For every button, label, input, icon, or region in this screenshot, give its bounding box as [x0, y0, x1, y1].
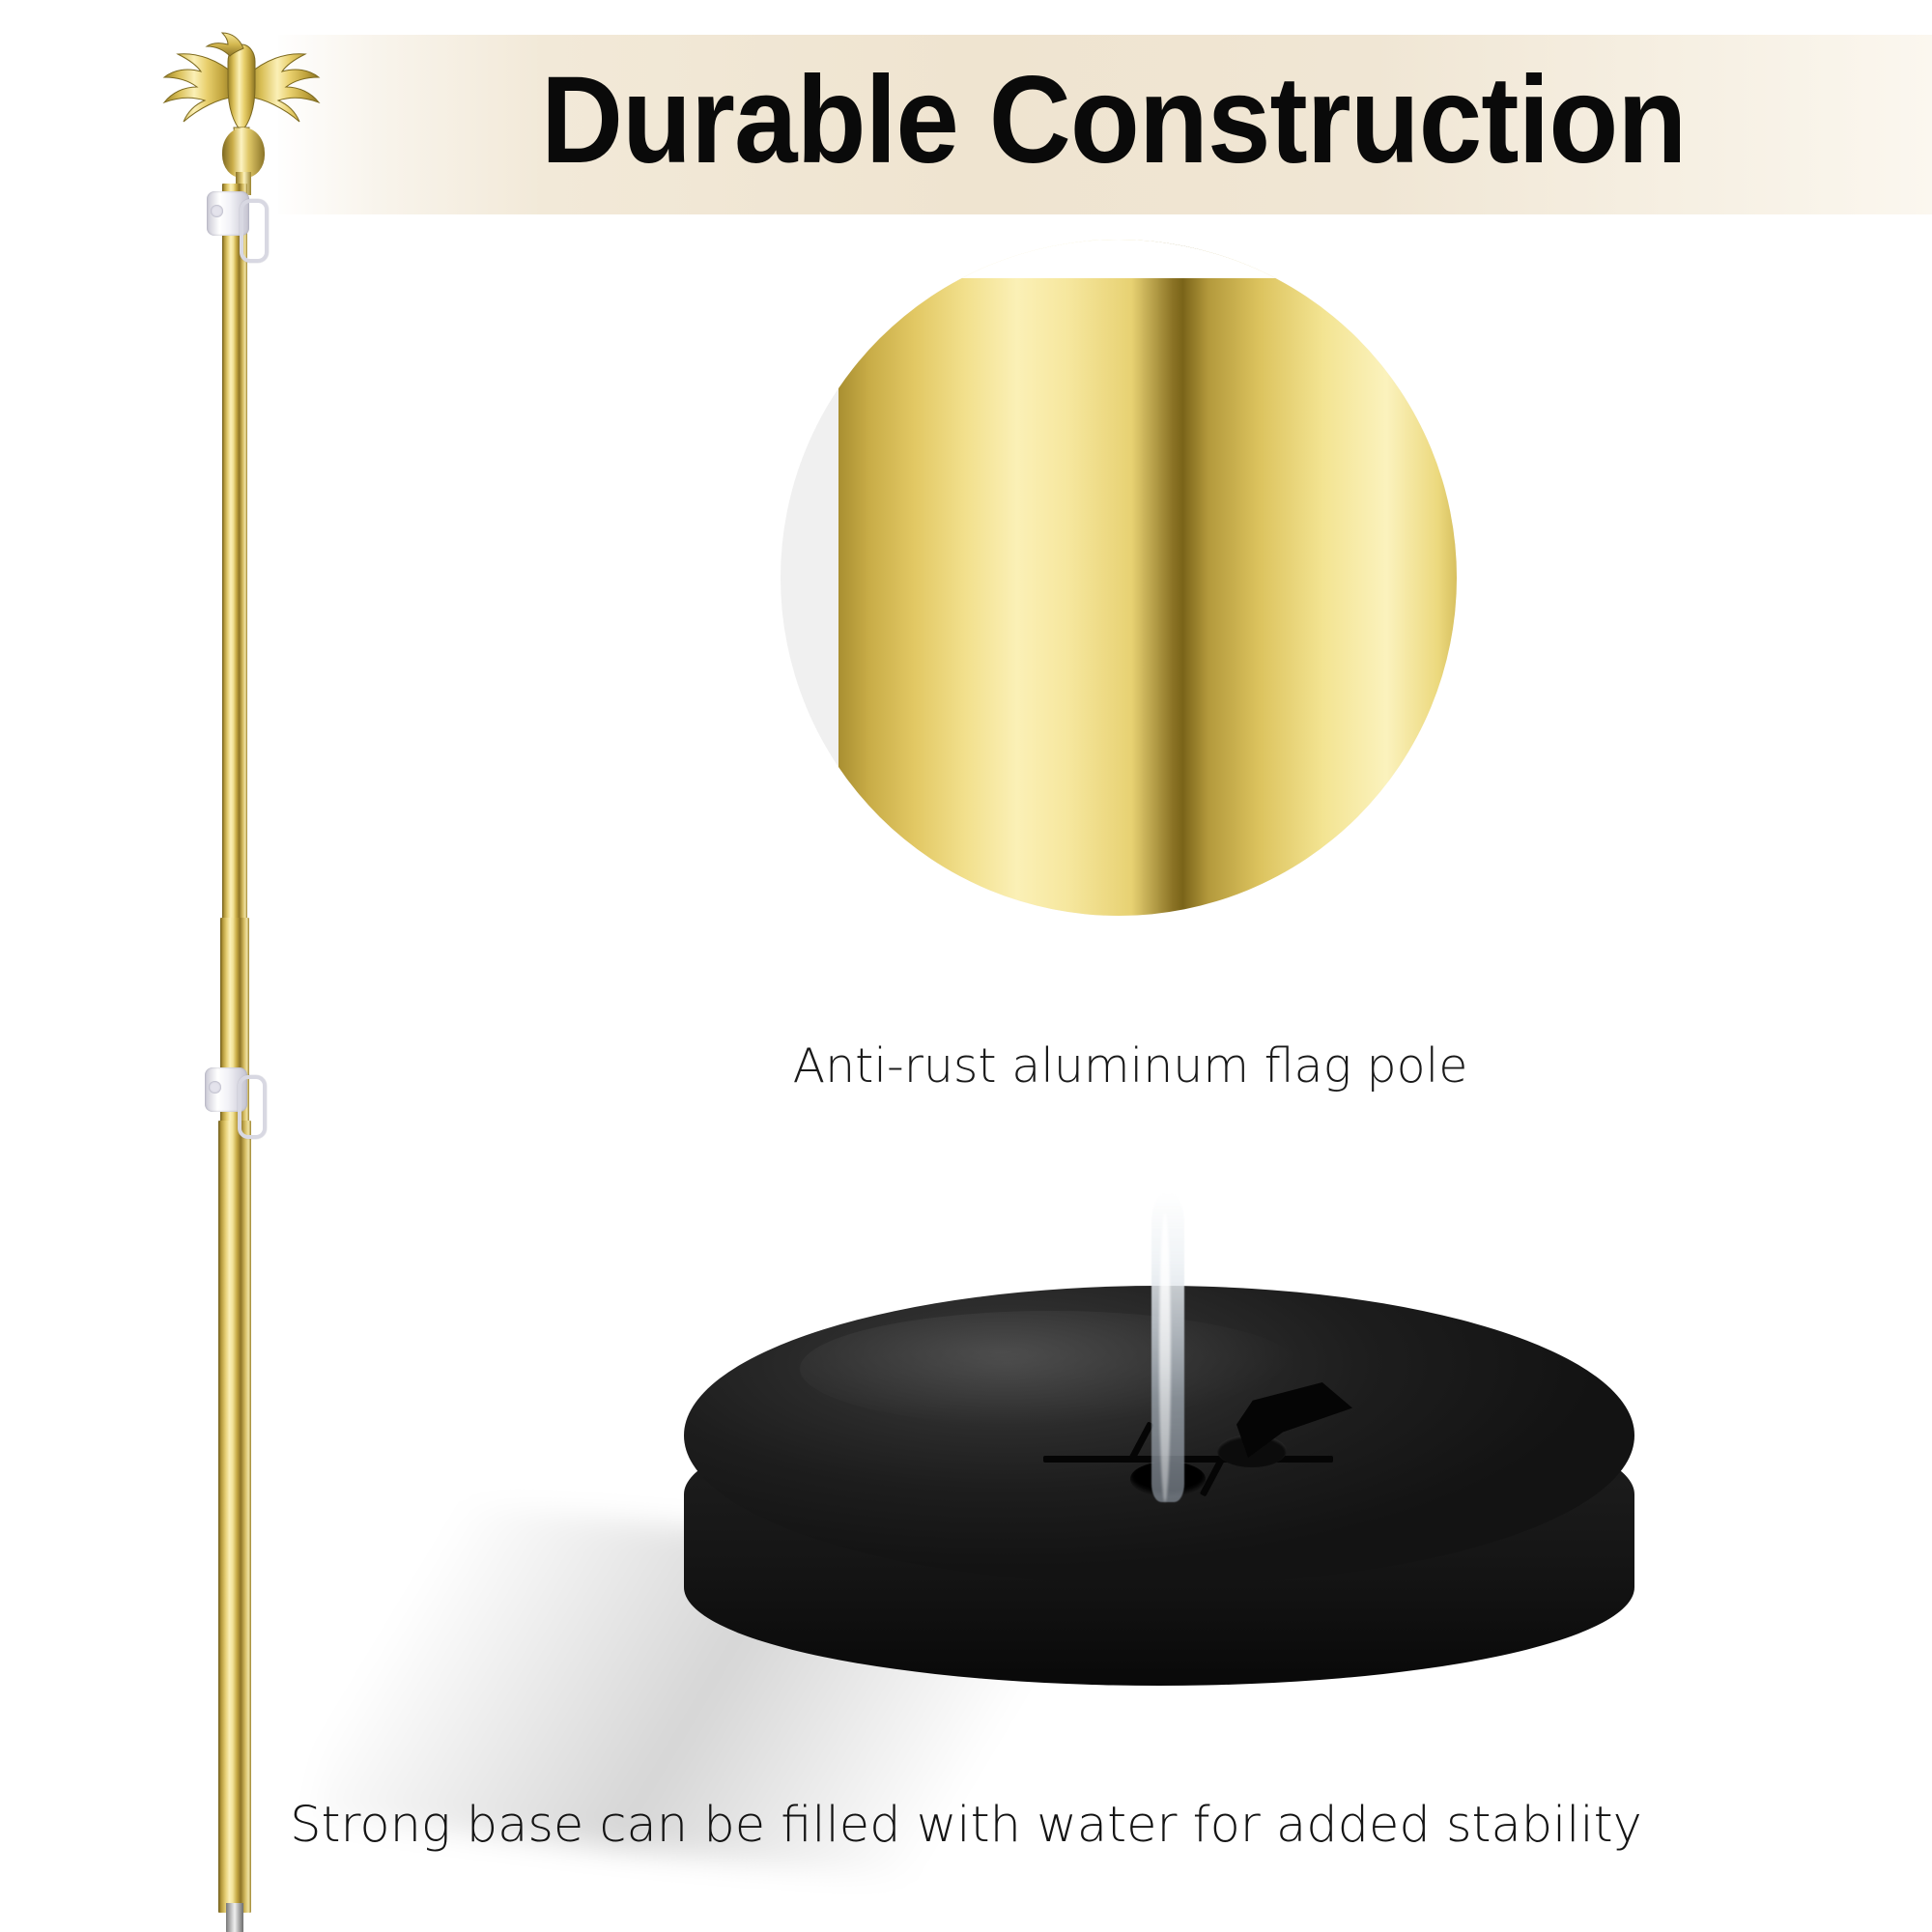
finial-ball	[222, 128, 265, 178]
water-base-assembly	[676, 1280, 1642, 1744]
carabiner-hook-icon	[238, 1075, 267, 1139]
recess-arm-horizontal	[1043, 1456, 1333, 1463]
pole-tip	[226, 1903, 243, 1932]
water-stream-highlight	[1159, 1212, 1171, 1502]
flag-clip-upper	[207, 191, 257, 245]
pole-closeup-circle	[781, 240, 1457, 916]
caption-base: Strong base can be filled with water for…	[0, 1797, 1932, 1854]
tube-top-curve	[838, 240, 1457, 278]
eagle-finial-icon	[155, 19, 328, 188]
page-title: Durable Construction	[541, 43, 1785, 197]
pole-segment-top	[222, 184, 247, 947]
caption-pole: Anti-rust aluminum flag pole	[792, 1038, 1468, 1094]
base-highlight	[800, 1311, 1302, 1427]
carabiner-hook-icon	[240, 199, 269, 263]
circle-photo-clip	[781, 240, 1457, 916]
flag-clip-lower	[205, 1067, 255, 1122]
recess-arm-upper	[1129, 1421, 1154, 1460]
pole-segment-bottom	[218, 1121, 251, 1913]
gold-tube-closeup	[838, 240, 1457, 916]
infographic-canvas: Durable Construction	[0, 0, 1932, 1932]
